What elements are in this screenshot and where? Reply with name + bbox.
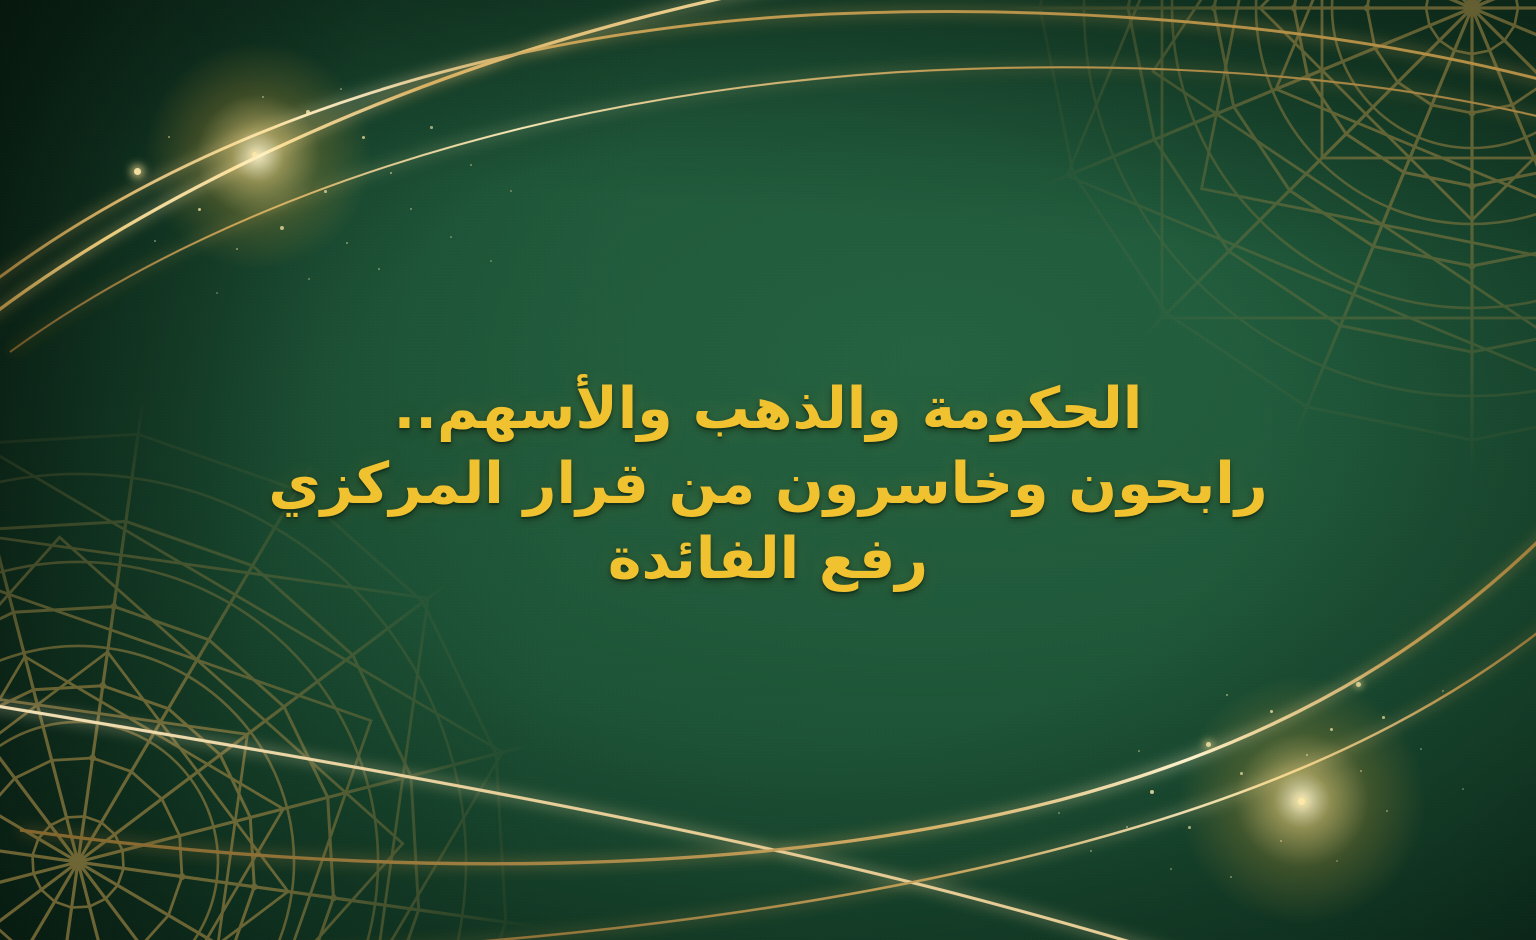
headline-line-3: رفع الفائدة	[40, 522, 1496, 597]
headline-line-1: الحكومة والذهب والأسهم..	[40, 372, 1496, 447]
poster-canvas: الحكومة والذهب والأسهم.. رابحون وخاسرون …	[0, 0, 1536, 940]
headline-block: الحكومة والذهب والأسهم.. رابحون وخاسرون …	[0, 372, 1536, 598]
headline-line-2: رابحون وخاسرون من قرار المركزي	[40, 447, 1496, 522]
